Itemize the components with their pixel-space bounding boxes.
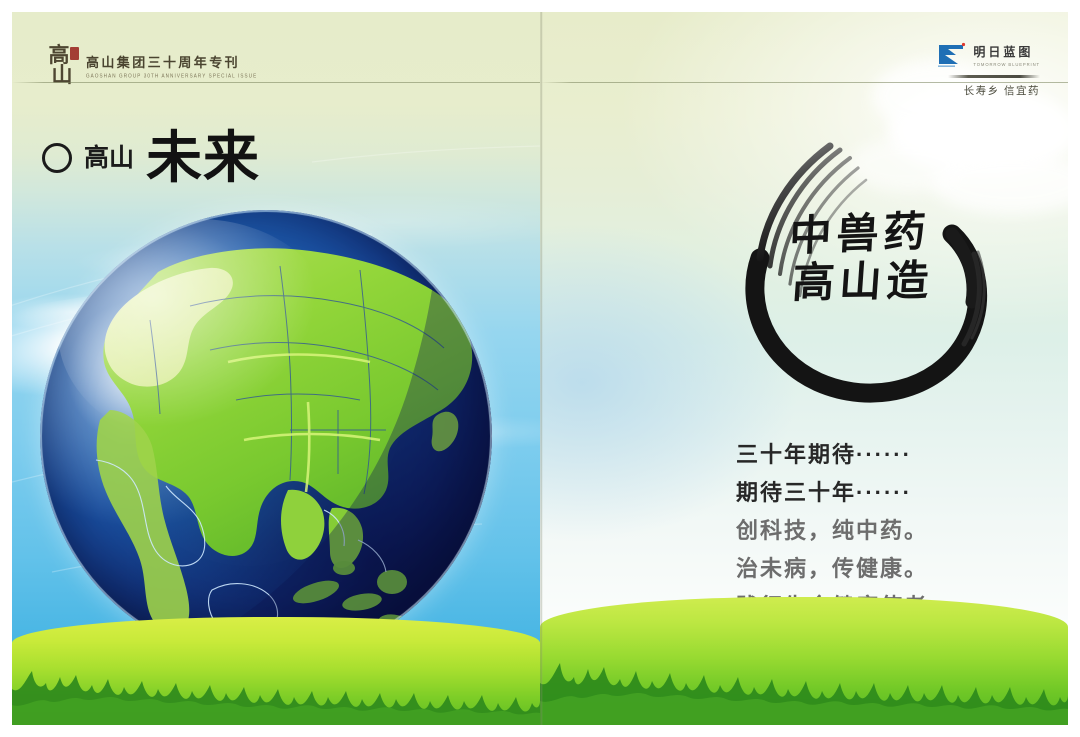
page-title-main: 未来 xyxy=(146,130,260,186)
mingri-logo-english: TOMORROW BLUEPRINT xyxy=(973,62,1040,67)
mingri-lantu-logo[interactable]: 明日蓝图 TOMORROW BLUEPRINT 长寿乡 信宜药 xyxy=(936,42,1040,98)
right-page: 中兽药 高山造 三十年期待······ 期待三十年······ 创科技，纯中药。… xyxy=(540,12,1068,725)
calligraphy-artwork: 中兽药 高山造 xyxy=(726,108,992,408)
page-title: 高山 未来 xyxy=(42,130,260,186)
gaoshan-logo-chinese: 高山集团三十周年专刊 xyxy=(86,52,257,71)
earth-globe xyxy=(40,210,492,662)
right-page-header: 明日蓝图 TOMORROW BLUEPRINT 长寿乡 信宜药 xyxy=(540,12,1068,86)
calligraphy-text: 中兽药 高山造 xyxy=(770,212,950,304)
gaoshan-logo-mark: 高 山 xyxy=(40,46,78,90)
left-page: 高 山 高山集团三十周年专刊 GAOSHAN GROUP 30TH ANNIVE… xyxy=(12,12,540,725)
gaoshan-logo[interactable]: 高 山 高山集团三十周年专刊 GAOSHAN GROUP 30TH ANNIVE… xyxy=(40,46,257,90)
gaoshan-logo-text: 高山集团三十周年专刊 GAOSHAN GROUP 30TH ANNIVERSAR… xyxy=(86,52,257,90)
slogan-line-4: 治未病，传健康。 xyxy=(736,558,952,580)
left-page-header: 高 山 高山集团三十周年专刊 GAOSHAN GROUP 30TH ANNIVE… xyxy=(12,12,540,86)
left-header-rule xyxy=(12,82,540,83)
logo-divider xyxy=(948,75,1040,78)
calligraphy-line-2: 高山造 xyxy=(774,259,951,306)
grass-blades xyxy=(12,617,540,725)
mingri-logo-chinese: 明日蓝图 xyxy=(973,43,1040,60)
globe-landmass xyxy=(40,210,492,662)
gaoshan-logo-english: GAOSHAN GROUP 30TH ANNIVERSARY SPECIAL I… xyxy=(86,73,257,79)
paper-area: 高 山 高山集团三十周年专刊 GAOSHAN GROUP 30TH ANNIVE… xyxy=(12,12,1068,725)
right-grass-field xyxy=(540,597,1068,725)
right-header-rule xyxy=(540,82,1068,83)
left-grass-field xyxy=(12,617,540,725)
slogan-line-3: 创科技，纯中药。 xyxy=(736,520,952,542)
mingri-logo-mark-icon xyxy=(936,42,966,68)
logo-tagline: 长寿乡 信宜药 xyxy=(936,83,1040,98)
red-seal-icon xyxy=(70,47,79,60)
gaoshan-mark-char-2: 山 xyxy=(46,66,78,86)
slogan-line-1: 三十年期待······ xyxy=(736,444,952,466)
slogan-line-2: 期待三十年······ xyxy=(736,482,952,504)
circle-bullet-icon xyxy=(42,143,72,173)
grass-blades xyxy=(540,597,1068,725)
magazine-spread: 高 山 高山集团三十周年专刊 GAOSHAN GROUP 30TH ANNIVE… xyxy=(0,0,1080,737)
calligraphy-line-1: 中兽药 xyxy=(769,209,952,259)
page-title-prefix: 高山 xyxy=(84,146,134,171)
